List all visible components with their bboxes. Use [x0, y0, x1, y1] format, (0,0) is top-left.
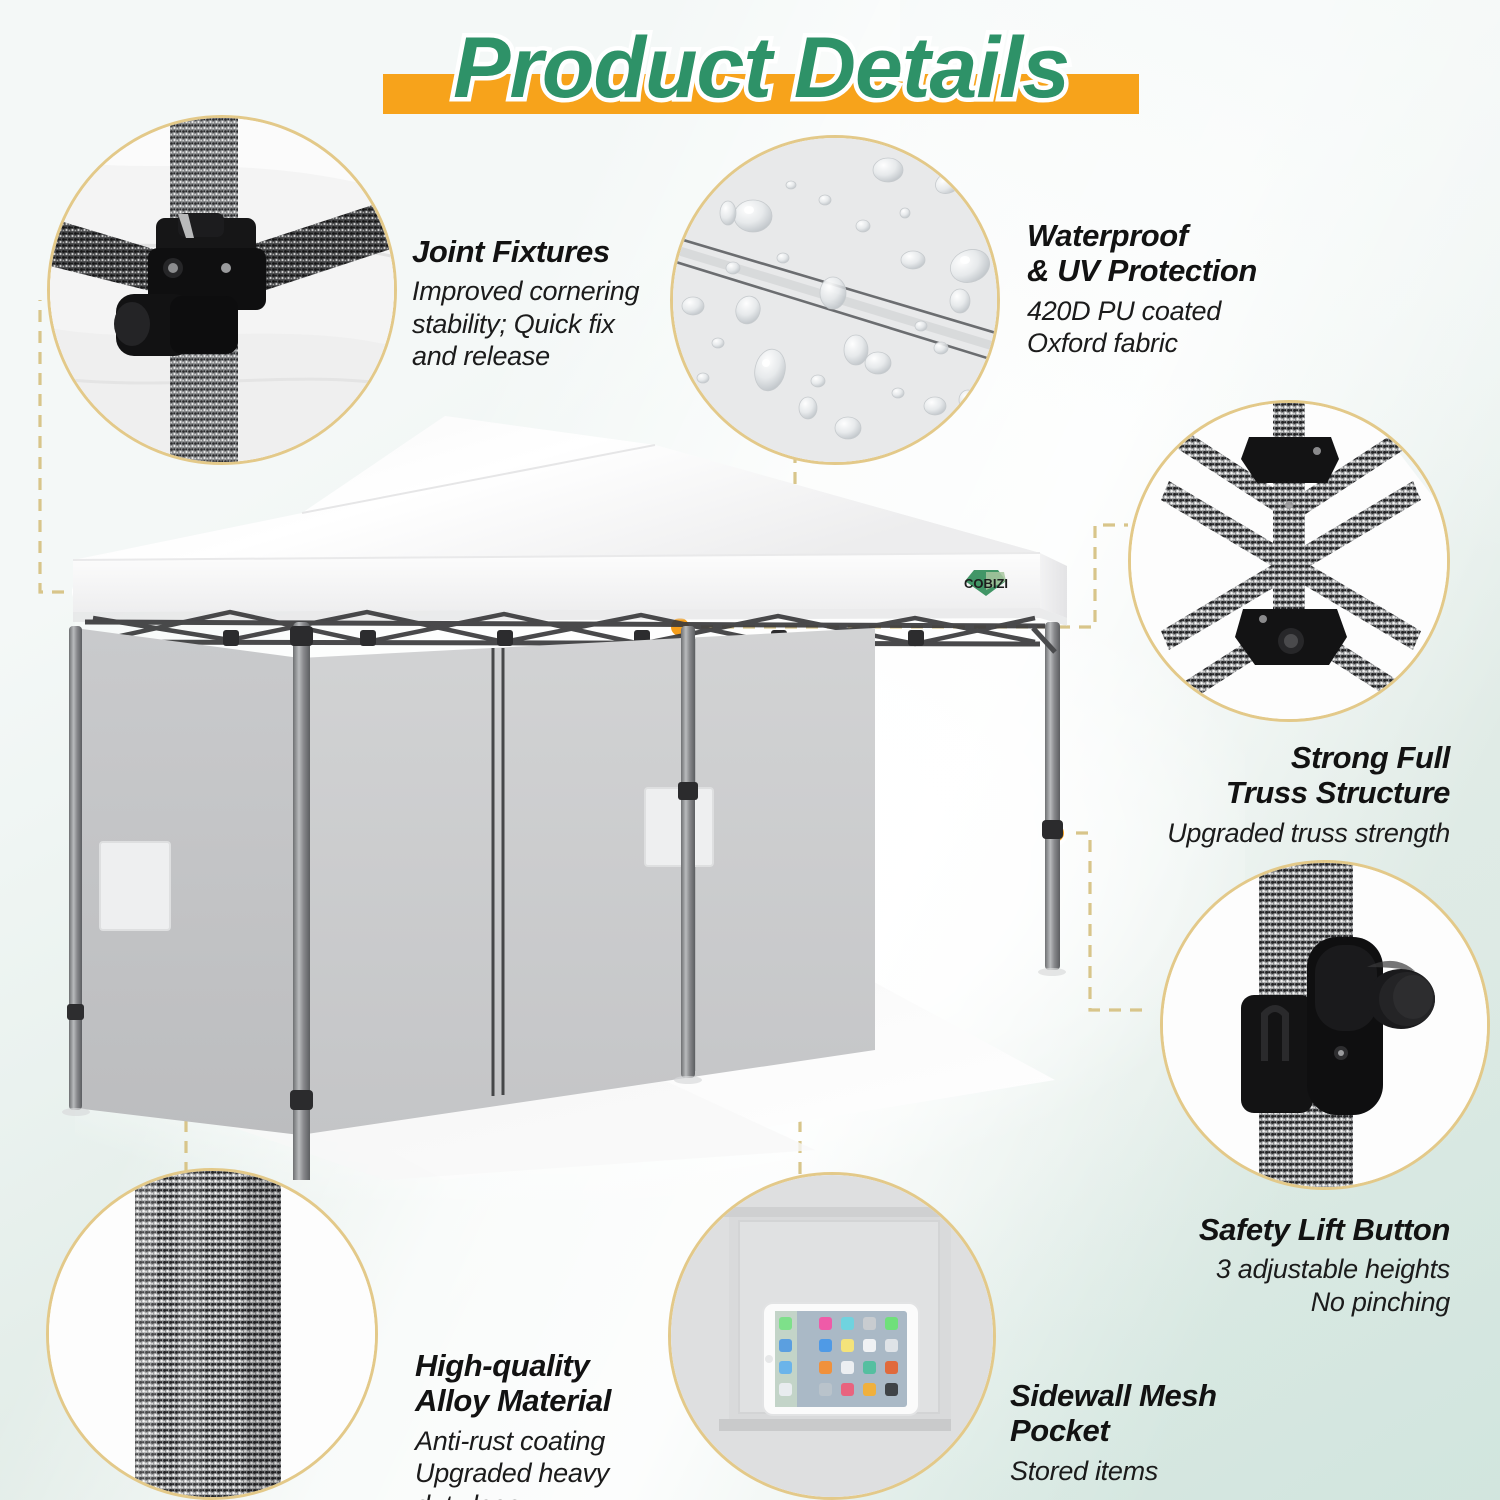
infographic-canvas: Product Details: [0, 0, 1500, 1500]
callout-truss-structure: Strong Full Truss Structure Upgraded tru…: [1085, 740, 1450, 849]
callout-title: Waterproof & UV Protection: [1027, 218, 1317, 289]
callout-description: 420D PU coated Oxford fabric: [1027, 295, 1317, 360]
callout-description: Stored items: [1010, 1455, 1310, 1487]
inset-safety-lift-button: [1160, 860, 1490, 1190]
tablet-in-pocket: [763, 1303, 919, 1415]
callout-title: Safety Lift Button: [1080, 1212, 1450, 1247]
mesh-pocket-right: [645, 788, 713, 866]
svg-text:COBIZI: COBIZI: [964, 576, 1008, 591]
callout-title: Joint Fixtures: [412, 234, 662, 269]
mesh-pocket-left: [100, 842, 170, 930]
callout-description: 3 adjustable heights No pinching: [1080, 1253, 1450, 1318]
callout-description: Improved cornering stability; Quick fix …: [412, 275, 662, 372]
callout-title: Strong Full Truss Structure: [1085, 740, 1450, 811]
callout-description: Upgraded truss strength: [1085, 817, 1450, 849]
callout-alloy-material: High-quality Alloy Material Anti-rust co…: [415, 1348, 675, 1500]
callout-description: Anti-rust coating Upgraded heavy duty le…: [415, 1425, 675, 1500]
callout-joint-fixtures: Joint Fixtures Improved cornering stabil…: [412, 234, 662, 373]
callout-waterproof-uv: Waterproof & UV Protection 420D PU coate…: [1027, 218, 1317, 359]
callout-mesh-pocket: Sidewall Mesh Pocket Stored items: [1010, 1378, 1310, 1487]
inset-waterproof-fabric: [670, 135, 1000, 465]
inset-joint-fixtures: [47, 115, 397, 465]
inset-mesh-pocket: [668, 1172, 996, 1500]
callout-title: High-quality Alloy Material: [415, 1348, 675, 1419]
canopy-tent-illustration: COBIZI: [55, 390, 1075, 1180]
inset-truss-structure: [1128, 400, 1450, 722]
callout-title: Sidewall Mesh Pocket: [1010, 1378, 1310, 1449]
callout-safety-lift-button: Safety Lift Button 3 adjustable heights …: [1080, 1212, 1450, 1318]
inset-alloy-material: [46, 1168, 378, 1500]
